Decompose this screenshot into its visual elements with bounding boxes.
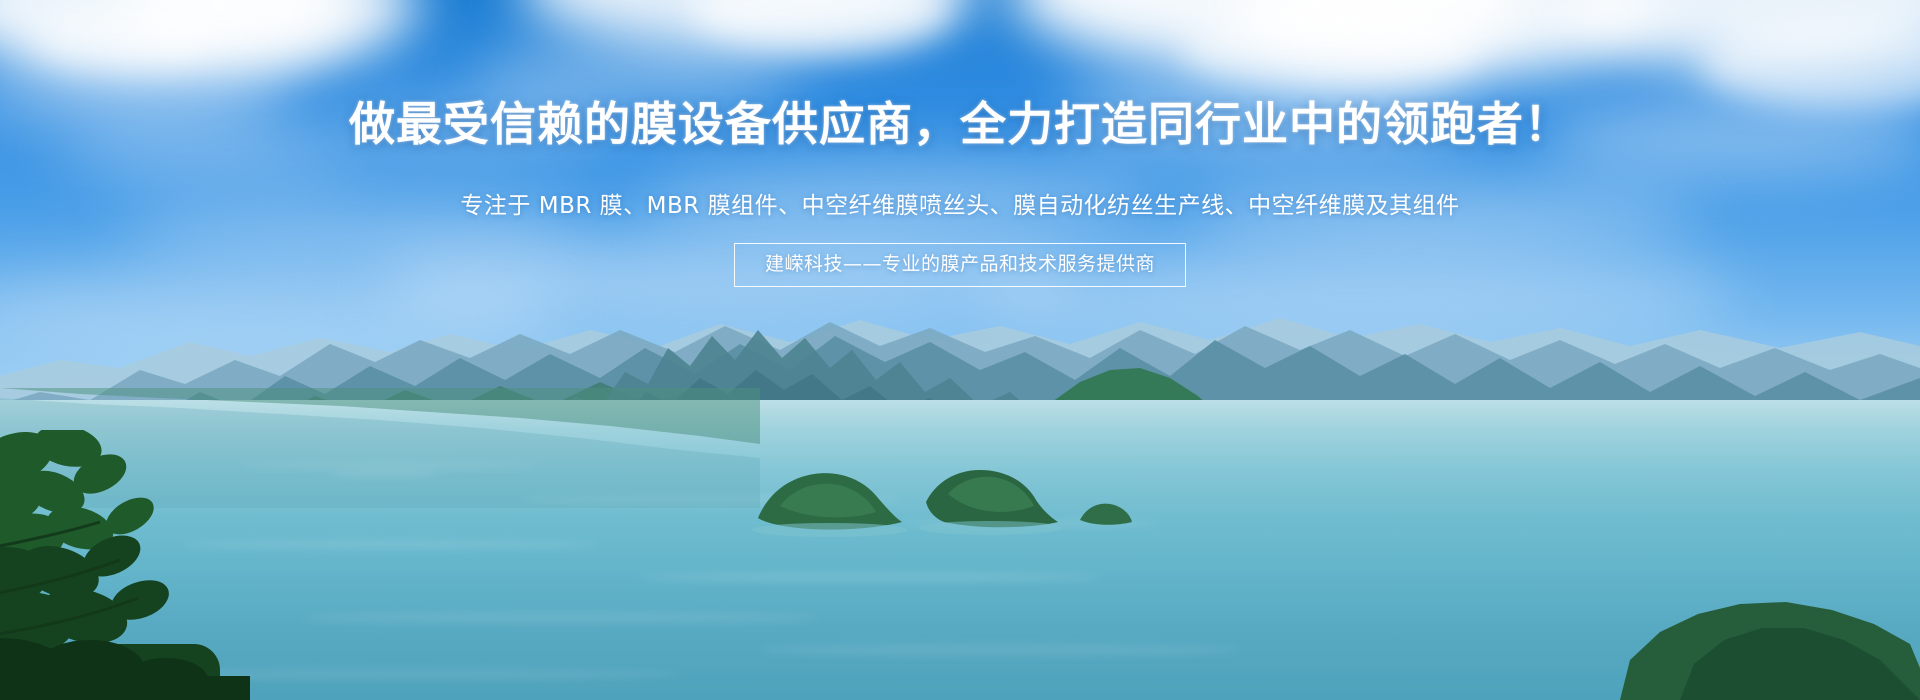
banner-tagline-box: 建嵘科技——专业的膜产品和技术服务提供商 [734,243,1186,287]
banner-subtitle: 专注于 MBR 膜、MBR 膜组件、中空纤维膜喷丝头、膜自动化纺丝生产线、中空纤… [0,186,1920,220]
banner-headline: 做最受信赖的膜设备供应商，全力打造同行业中的领跑者！ [0,99,1920,151]
banner-tagline-container: 建嵘科技——专业的膜产品和技术服务提供商 [0,243,1920,287]
hero-banner: 做最受信赖的膜设备供应商，全力打造同行业中的领跑者！ 专注于 MBR 膜、MBR… [0,0,1920,700]
banner-copy: 做最受信赖的膜设备供应商，全力打造同行业中的领跑者！ 专注于 MBR 膜、MBR… [0,0,1920,700]
